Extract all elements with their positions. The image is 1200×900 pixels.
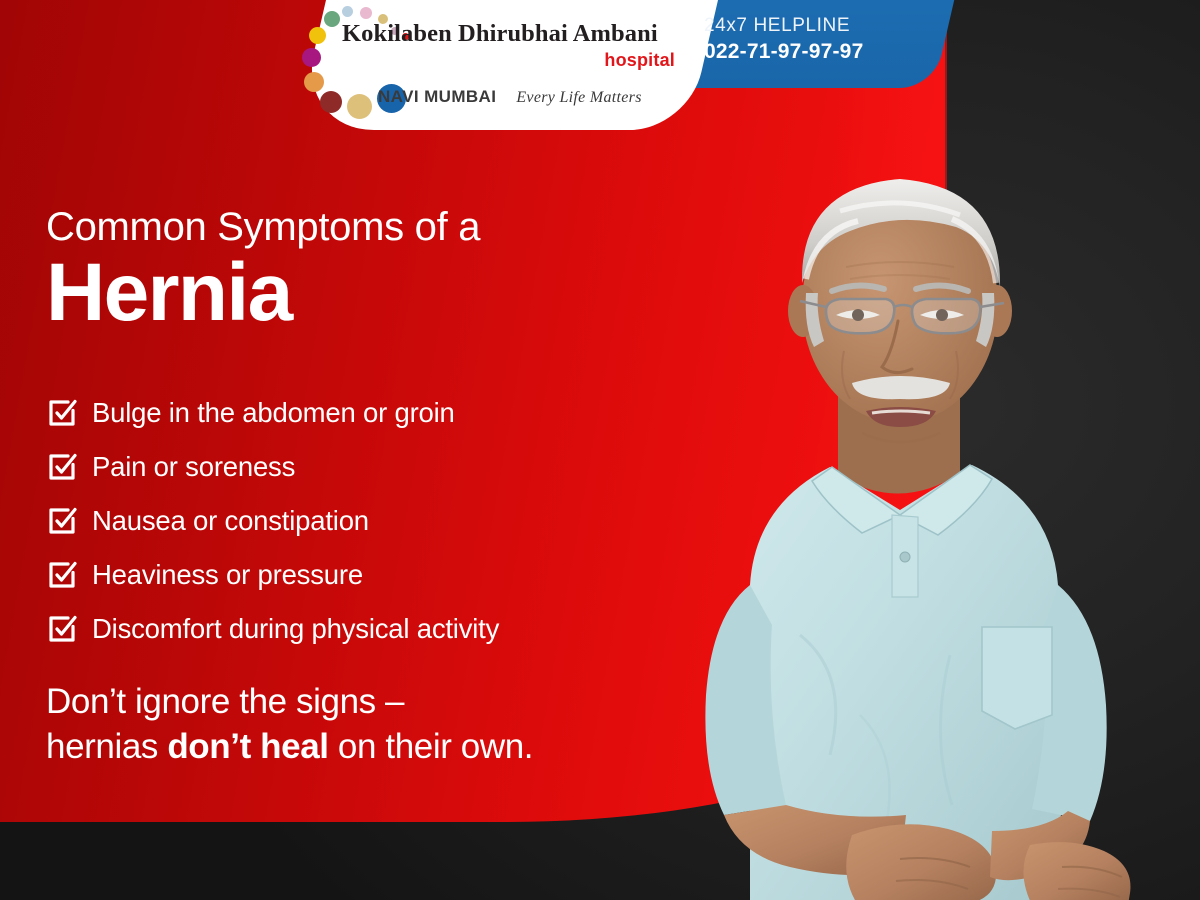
logo-wordmark: Kokilaben Dhirubhai Ambani hospital bbox=[342, 22, 697, 69]
checkbox-checked-icon bbox=[46, 613, 78, 645]
symptom-label: Nausea or constipation bbox=[92, 507, 369, 535]
closing-line-1: Don’t ignore the signs – bbox=[46, 680, 533, 725]
hospital-city: NAVI MUMBAI bbox=[378, 88, 496, 105]
list-item: Nausea or constipation bbox=[46, 494, 499, 548]
helpline-number[interactable]: 022-71-97-97-97 bbox=[704, 38, 944, 65]
hospital-word: hospital bbox=[342, 51, 675, 69]
symptom-label: Heaviness or pressure bbox=[92, 561, 363, 589]
closing-message: Don’t ignore the signs – hernias don’t h… bbox=[46, 680, 533, 770]
closing-line-2-after: on their own. bbox=[329, 727, 534, 766]
checkbox-checked-icon bbox=[46, 397, 78, 429]
headline-subtitle: Common Symptoms of a bbox=[46, 206, 480, 249]
symptom-label: Pain or soreness bbox=[92, 453, 295, 481]
headline-main: Hernia bbox=[46, 251, 480, 335]
checkbox-checked-icon bbox=[46, 559, 78, 591]
list-item: Pain or soreness bbox=[46, 440, 499, 494]
hospital-tagline: Every Life Matters bbox=[516, 90, 641, 106]
helpline-text-group: 24x7 HELPLINE 022-71-97-97-97 bbox=[704, 14, 944, 65]
helpline-label: 24x7 HELPLINE bbox=[704, 14, 944, 38]
poster-root: 24x7 HELPLINE 022-71-97-97-97 Kokilaben … bbox=[0, 0, 1200, 900]
symptom-label: Bulge in the abdomen or groin bbox=[92, 399, 455, 427]
list-item: Heaviness or pressure bbox=[46, 548, 499, 602]
list-item: Discomfort during physical activity bbox=[46, 602, 499, 656]
closing-line-2-bold: don’t heal bbox=[167, 727, 328, 766]
closing-line-2-before: hernias bbox=[46, 727, 167, 766]
list-item: Bulge in the abdomen or groin bbox=[46, 386, 499, 440]
closing-line-2: hernias don’t heal on their own. bbox=[46, 725, 533, 770]
hospital-name: Kokilaben Dhirubhai Ambani bbox=[342, 22, 697, 47]
symptom-list: Bulge in the abdomen or groin Pain or so… bbox=[46, 386, 499, 656]
checkbox-checked-icon bbox=[46, 451, 78, 483]
checkbox-checked-icon bbox=[46, 505, 78, 537]
elderly-man-photo bbox=[600, 115, 1200, 900]
logo-footer: NAVI MUMBAI Every Life Matters bbox=[378, 88, 698, 106]
page-title: Common Symptoms of a Hernia bbox=[46, 206, 480, 335]
symptom-label: Discomfort during physical activity bbox=[92, 615, 499, 643]
hospital-logo[interactable]: Kokilaben Dhirubhai Ambani hospital NAVI… bbox=[300, 0, 700, 130]
